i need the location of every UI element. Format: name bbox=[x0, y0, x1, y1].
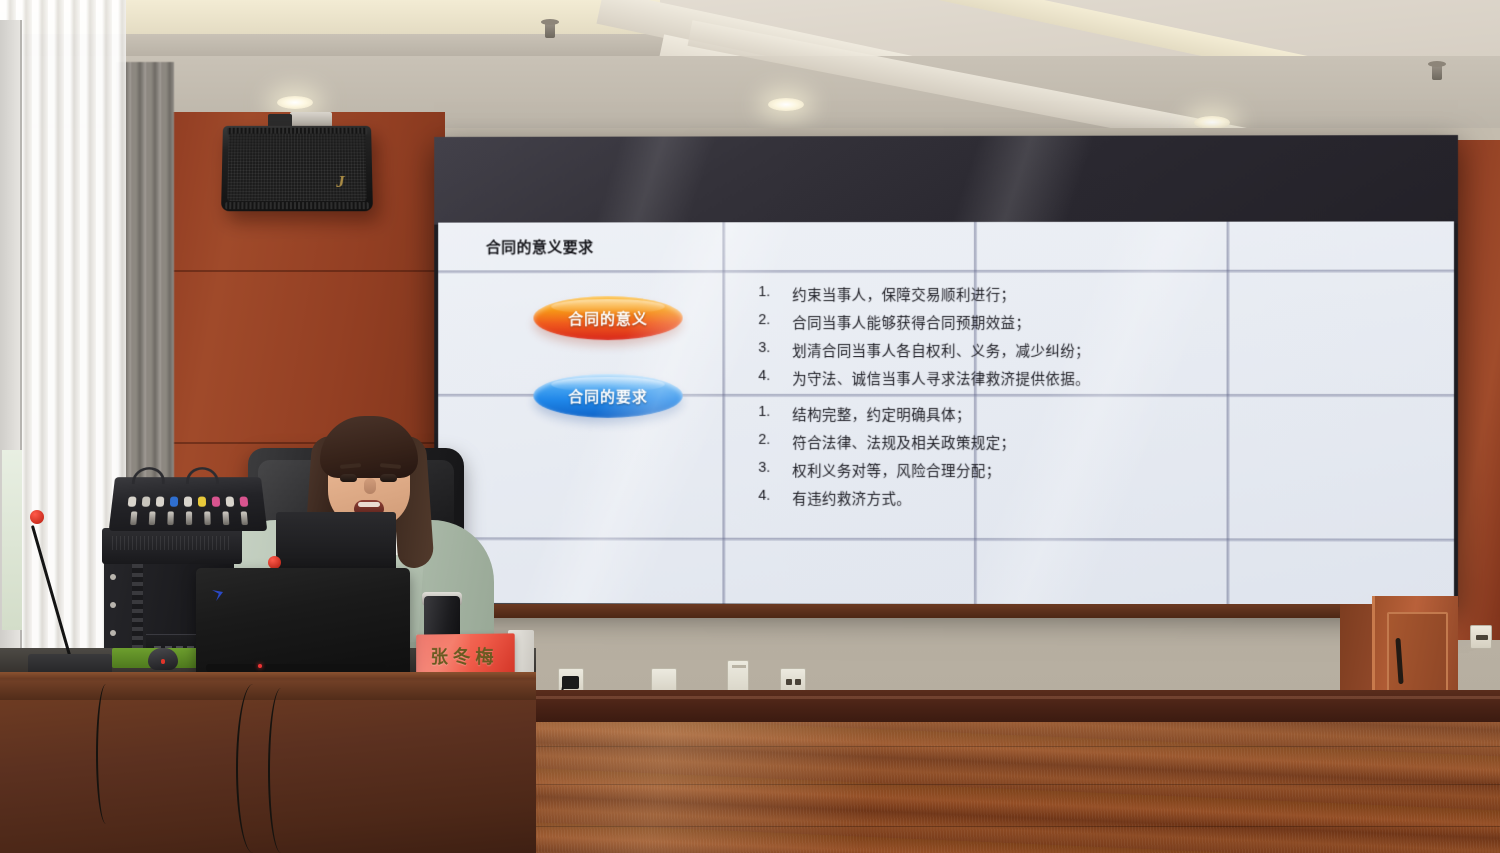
list-item-text: 有违约救济方式。 bbox=[792, 488, 911, 509]
mixer-fader[interactable] bbox=[222, 511, 229, 525]
mixer-knob[interactable] bbox=[142, 497, 151, 507]
presentation-slide: 合同的意义要求 合同的意义 合同的要求 1. 约束当事人，保障交易顺利进行； 2… bbox=[438, 221, 1454, 605]
list-item-number: 4. bbox=[758, 488, 792, 509]
mixer-fader[interactable] bbox=[130, 511, 137, 525]
list-item-text: 划清合同当事人各自权利、义务，减少纠纷； bbox=[792, 340, 1090, 361]
laptop-hinge bbox=[206, 664, 386, 672]
list-item: 2. 合同当事人能够获得合同预期效益； bbox=[758, 312, 1090, 333]
list-item-number: 1. bbox=[758, 284, 792, 305]
window-pane bbox=[2, 450, 22, 630]
list-item-text: 合同当事人能够获得合同预期效益； bbox=[792, 312, 1030, 333]
list-item: 3. 划清合同当事人各自权利、义务，减少纠纷； bbox=[758, 340, 1090, 361]
list-item: 2. 符合法律、法规及相关政策规定； bbox=[758, 432, 1015, 453]
bezel-seam-v1 bbox=[722, 222, 725, 603]
list-item-number: 2. bbox=[758, 432, 792, 453]
list-item-number: 3. bbox=[758, 340, 792, 361]
list-item-text: 符合法律、法规及相关政策规定； bbox=[792, 432, 1015, 453]
mixer-fader[interactable] bbox=[149, 511, 156, 525]
desk-cable-1 bbox=[96, 684, 116, 824]
video-wall-display[interactable]: 合同的意义要求 合同的意义 合同的要求 1. 约束当事人，保障交易顺利进行； 2… bbox=[434, 135, 1458, 607]
bezel-seam-v3 bbox=[1227, 222, 1230, 605]
bezel-seam-h1 bbox=[438, 270, 1454, 274]
mixer-fader[interactable] bbox=[204, 511, 211, 525]
mixer-knob[interactable] bbox=[184, 497, 192, 507]
list-item-text: 为守法、诚信当事人寻求法律救济提供依据。 bbox=[792, 368, 1090, 389]
audio-mixer[interactable] bbox=[109, 477, 268, 531]
mixer-fader[interactable] bbox=[186, 511, 192, 525]
laptop-screen-back[interactable] bbox=[196, 568, 410, 676]
list-item-text: 结构完整，约定明确具体； bbox=[792, 404, 971, 425]
mixer-fader[interactable] bbox=[241, 511, 248, 525]
list-item-number: 3. bbox=[758, 460, 792, 481]
list-item-number: 2. bbox=[758, 312, 792, 333]
eye-right bbox=[380, 474, 397, 482]
laptop-brand-logo bbox=[212, 590, 223, 601]
list-item-text: 权利义务对等，风险合理分配； bbox=[792, 460, 1000, 481]
laptop-status-led bbox=[258, 664, 262, 668]
mixer-knob[interactable] bbox=[170, 497, 178, 507]
slide-list-meaning: 1. 约束当事人，保障交易顺利进行； 2. 合同当事人能够获得合同预期效益； 3… bbox=[758, 284, 1090, 396]
microphone-head[interactable] bbox=[30, 510, 44, 524]
video-wall-top-dark-panels bbox=[434, 135, 1458, 225]
mixer-fader[interactable] bbox=[167, 511, 174, 525]
list-item: 1. 约束当事人，保障交易顺利进行； bbox=[758, 284, 1090, 305]
speaker-brand-logo: J bbox=[336, 173, 350, 193]
list-item-number: 1. bbox=[758, 404, 792, 425]
ceiling-downlight-1 bbox=[277, 96, 313, 109]
list-item: 3. 权利义务对等，风险合理分配； bbox=[758, 460, 1015, 481]
mixer-knob[interactable] bbox=[212, 497, 220, 507]
sprinkler-head-1 bbox=[545, 22, 555, 38]
window-frame bbox=[0, 20, 22, 660]
second-monitor-rear bbox=[276, 512, 396, 574]
name-placard-text: 张冬梅 bbox=[431, 643, 499, 670]
screen-base-ledge bbox=[432, 604, 1456, 618]
pill-contract-requirement: 合同的要求 bbox=[533, 374, 682, 418]
wood-wall-panel-right bbox=[1452, 140, 1500, 640]
slide-title: 合同的意义要求 bbox=[486, 236, 594, 257]
list-item: 4. 为守法、诚信当事人寻求法律救济提供依据。 bbox=[758, 368, 1090, 389]
pill-contract-meaning-label: 合同的意义 bbox=[568, 308, 648, 329]
slide-list-requirement: 1. 结构完整，约定明确具体； 2. 符合法律、法规及相关政策规定； 3. 权利… bbox=[758, 404, 1015, 516]
desk-cable-2 bbox=[236, 684, 270, 853]
conference-room-scene: J 合同的意义要求 合同的意义 合同的要求 1. 约束当事人，保障交易顺利进行； bbox=[0, 0, 1500, 853]
bezel-seam-h3 bbox=[438, 537, 1454, 541]
power-plug bbox=[562, 676, 579, 689]
mixer-knob[interactable] bbox=[128, 497, 137, 507]
pill-contract-meaning: 合同的意义 bbox=[533, 296, 682, 340]
nose bbox=[364, 478, 376, 494]
list-item-text: 约束当事人，保障交易顺利进行； bbox=[792, 284, 1015, 305]
mixer-knob[interactable] bbox=[156, 497, 164, 507]
ceiling-downlight-2 bbox=[768, 98, 804, 111]
mixer-knob[interactable] bbox=[239, 497, 248, 507]
computer-mouse[interactable] bbox=[148, 648, 178, 670]
wall-speaker: J bbox=[221, 126, 373, 211]
hair-top bbox=[320, 416, 418, 478]
eye-left bbox=[340, 474, 357, 482]
sprinkler-head-2 bbox=[1432, 64, 1442, 80]
wall-outlet-right[interactable] bbox=[1470, 625, 1492, 649]
amplifier bbox=[102, 528, 242, 564]
mixer-knob[interactable] bbox=[198, 497, 206, 507]
pill-contract-requirement-label: 合同的要求 bbox=[568, 385, 648, 406]
desk-cable-3 bbox=[268, 688, 294, 853]
mixer-knob[interactable] bbox=[226, 497, 235, 507]
list-item-number: 4. bbox=[758, 368, 792, 389]
list-item: 1. 结构完整，约定明确具体； bbox=[758, 404, 1015, 425]
list-item: 4. 有违约救济方式。 bbox=[758, 488, 1015, 509]
